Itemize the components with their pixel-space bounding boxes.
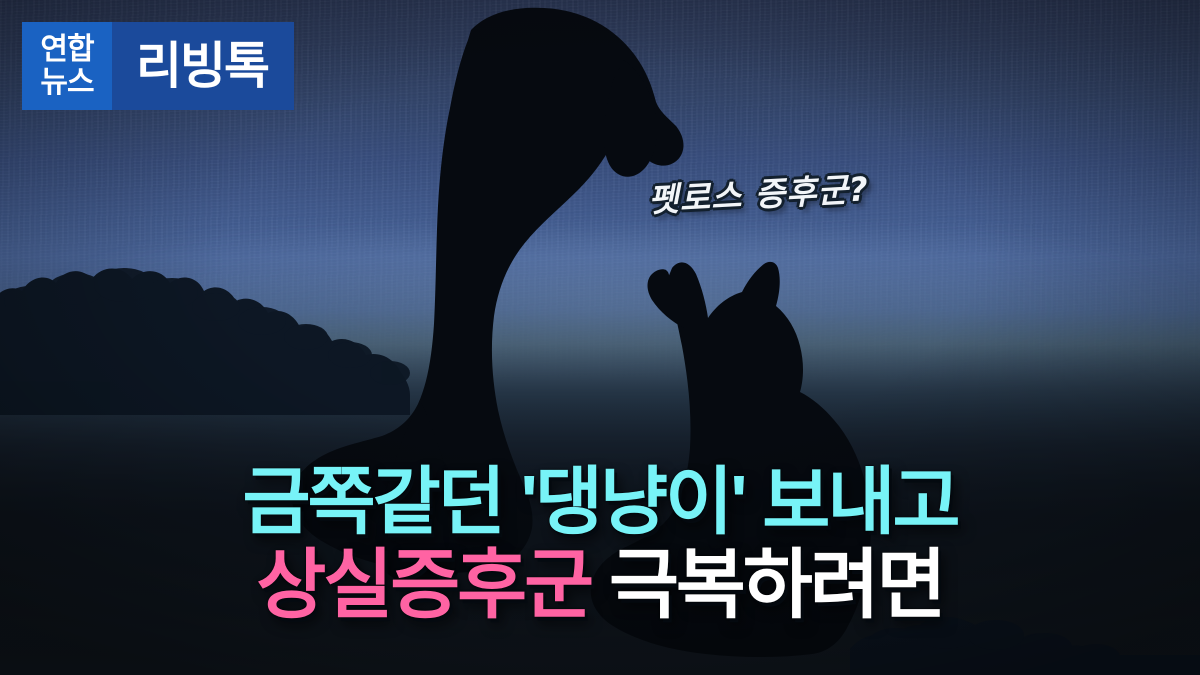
news-card-image: 연합 뉴스 리빙톡 펫로스 증후군? 금쪽같던 '댕냥이' 보내고 상실증후군극…	[0, 0, 1200, 675]
headline-line-2: 상실증후군극복하려면	[0, 549, 1200, 623]
yonhap-news-logo[interactable]: 연합 뉴스	[22, 22, 112, 110]
headline-plain-segment: 극복하려면	[609, 543, 944, 628]
living-talk-section-badge[interactable]: 리빙톡	[112, 22, 294, 110]
header-badges: 연합 뉴스 리빙톡	[22, 22, 294, 110]
headline-highlight-segment: 상실증후군	[256, 543, 591, 628]
headline: 금쪽같던 '댕냥이' 보내고 상실증후군극복하려면	[0, 466, 1200, 623]
section-badge-label: 리빙톡	[136, 41, 268, 91]
headline-line-1: 금쪽같던 '댕냥이' 보내고	[0, 466, 1200, 539]
brand-line-1: 연합	[40, 35, 93, 65]
brand-line-2: 뉴스	[40, 68, 93, 98]
